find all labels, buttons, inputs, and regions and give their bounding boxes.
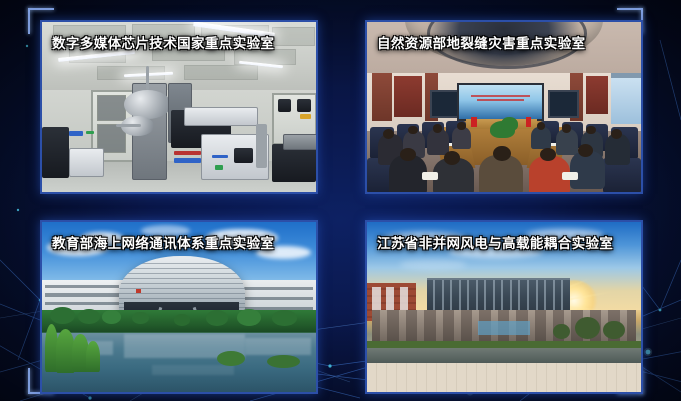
panel-4-photo-frame: 江苏省非并网风电与高载能耦合实验室 [365,220,643,394]
panel-3-caption: 教育部海上网络通讯体系重点实验室 [52,232,274,252]
panel-4-bottom-right[interactable]: 江苏省非并网风电与高载能耦合实验室 [353,208,643,394]
panel-1-caption: 数字多媒体芯片技术国家重点实验室 [52,32,274,52]
lab-showcase-screen: 数字多媒体芯片技术国家重点实验室 [0,0,681,401]
panel-3-photo-frame: 教育部海上网络通讯体系重点实验室 [40,220,318,394]
panel-2-photo-frame: 自然资源部地裂缝灾害重点实验室 [365,20,643,194]
panel-2-caption: 自然资源部地裂缝灾害重点实验室 [377,32,586,52]
panel-4-caption: 江苏省非并网风电与高载能耦合实验室 [377,232,613,252]
panel-1-top-left[interactable]: 数字多媒体芯片技术国家重点实验室 [28,8,318,194]
panel-3-bottom-left[interactable]: 教育部海上网络通讯体系重点实验室 [28,208,318,394]
panel-2-top-right[interactable]: 自然资源部地裂缝灾害重点实验室 [353,8,643,194]
panel-1-photo-frame: 数字多媒体芯片技术国家重点实验室 [40,20,318,194]
panel-grid: 数字多媒体芯片技术国家重点实验室 [0,0,681,401]
